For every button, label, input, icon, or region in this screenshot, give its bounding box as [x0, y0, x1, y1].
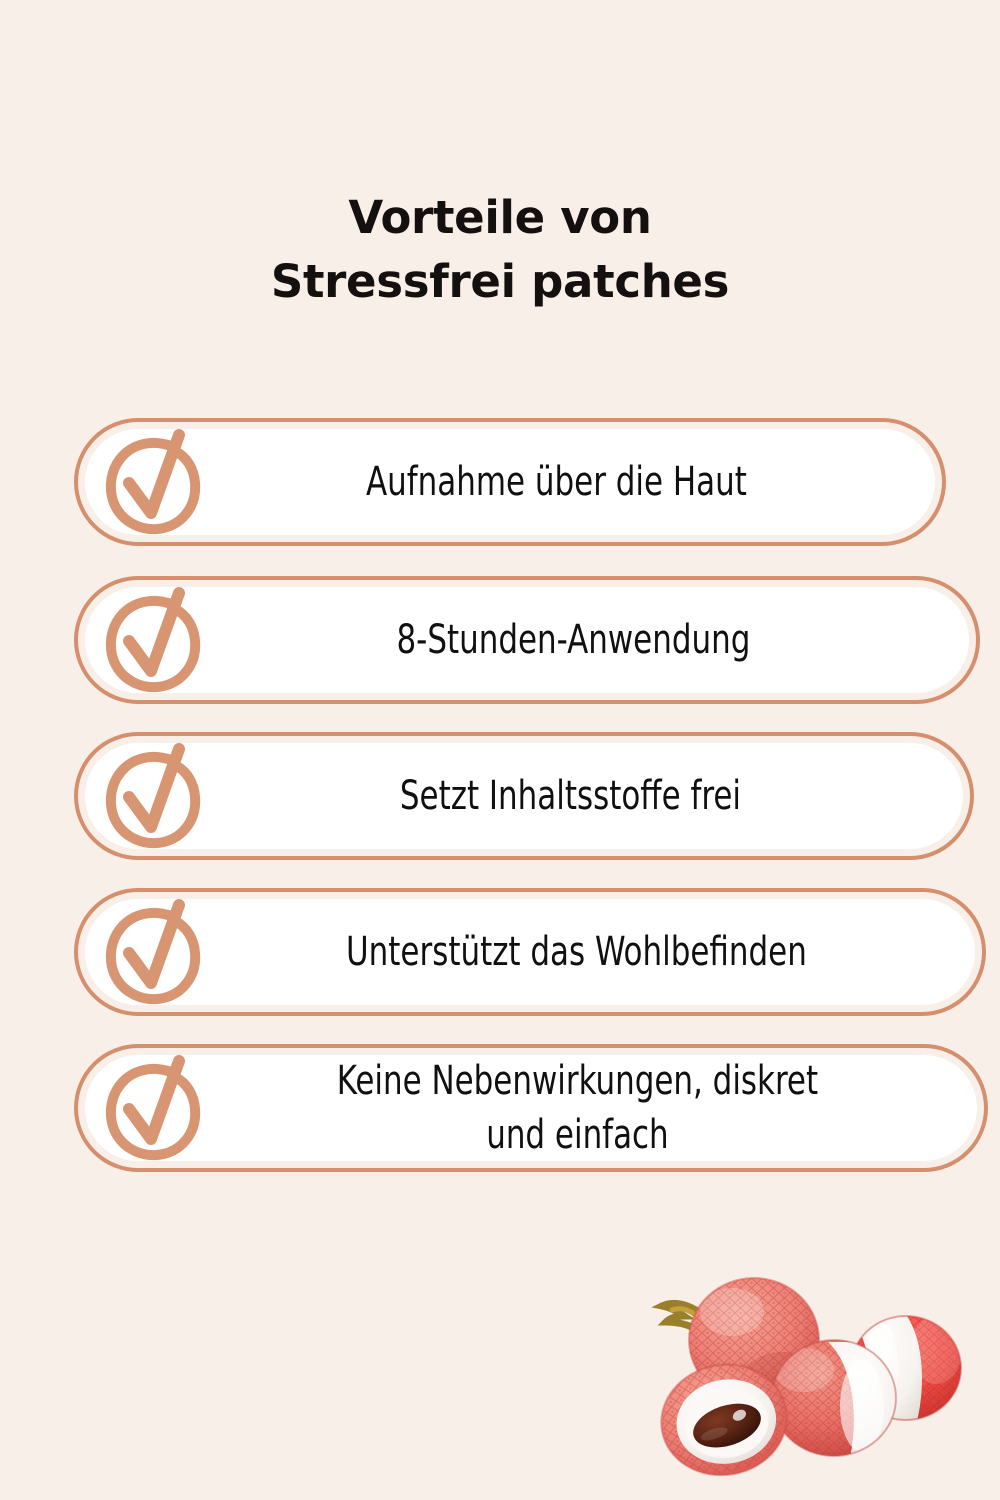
page-title-line-2: Stressfrei patches	[0, 250, 1000, 314]
benefit-item[interactable]: Setzt Inhaltsstoffe frei	[74, 732, 974, 860]
benefit-item-label: Aufnahme über die Haut	[145, 457, 876, 507]
benefit-item-label: 8-Stunden-Anwendung	[147, 615, 907, 665]
benefit-item[interactable]: Aufnahme über die Haut	[74, 418, 946, 546]
benefit-item-inner: Setzt Inhaltsstoffe frei	[85, 743, 963, 849]
benefit-item[interactable]: Keine Nebenwirkungen, diskret und einfac…	[74, 1044, 988, 1172]
benefit-item-label: Setzt Inhaltsstoffe frei	[146, 771, 901, 821]
benefit-item-inner: Aufnahme über die Haut	[85, 429, 935, 535]
benefit-item-inner: Keine Nebenwirkungen, diskret und einfac…	[85, 1055, 977, 1161]
benefit-item[interactable]: Unterstützt das Wohlbefinden	[74, 888, 986, 1016]
benefit-item[interactable]: 8-Stunden-Anwendung	[74, 576, 980, 704]
benefit-item-inner: 8-Stunden-Anwendung	[85, 587, 969, 693]
benefit-item-inner: Unterstützt das Wohlbefinden	[85, 899, 975, 1005]
benefit-item-label: Keine Nebenwirkungen, diskret und einfac…	[147, 1055, 914, 1161]
lychee-fruit-photo	[614, 1258, 984, 1488]
page-title: Vorteile von Stressfrei patches	[0, 186, 1000, 314]
page-title-line-1: Vorteile von	[0, 186, 1000, 250]
benefit-item-label: Unterstützt das Wohlbefinden	[147, 927, 912, 977]
benefits-poster: Vorteile von Stressfrei patches Aufnahme…	[0, 0, 1000, 1500]
